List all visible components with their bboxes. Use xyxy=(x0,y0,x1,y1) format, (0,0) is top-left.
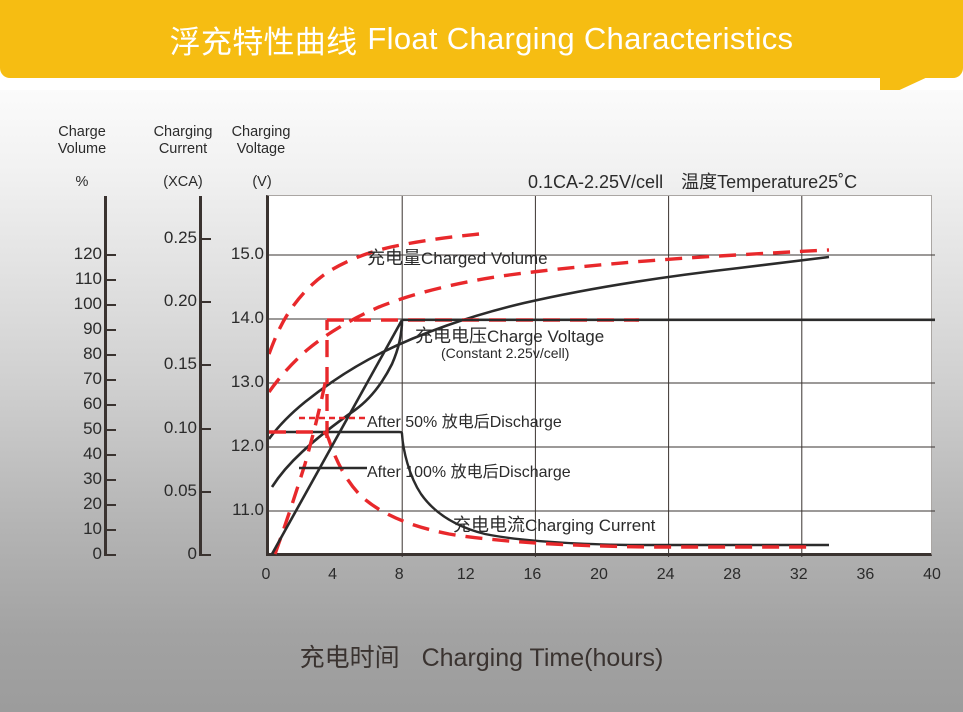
tick-mark xyxy=(107,279,116,281)
tick-label: 0.20 xyxy=(127,291,197,311)
tick-label: 40 xyxy=(32,444,102,464)
tick-mark xyxy=(107,529,116,531)
mid-axis-title: Charging Current xyxy=(140,124,226,158)
tick-mark xyxy=(107,454,116,456)
page-title-en: Float Charging Characteristics xyxy=(367,21,793,57)
tick-label: 14.0 xyxy=(194,308,264,328)
annotation-charge-voltage-cn: 充电电压 xyxy=(415,326,487,346)
tick-label: 120 xyxy=(32,244,102,264)
annotation-charged-volume-cn: 充电量 xyxy=(367,248,421,268)
tick-label: 90 xyxy=(32,319,102,339)
tick-mark xyxy=(202,301,211,303)
x-axis-title-en: Charging Time(hours) xyxy=(422,644,664,672)
tick-mark xyxy=(107,254,116,256)
tick-label: 15.0 xyxy=(194,244,264,264)
legend-label-100: After 100% 放电后Discharge xyxy=(367,458,571,482)
chart-page: 浮充特性曲线 Float Charging Characteristics Ch… xyxy=(0,0,963,712)
x-axis-title: 充电时间 Charging Time(hours) xyxy=(0,638,963,674)
condition-note: 0.1CA-2.25V/cell 温度Temperature25˚C xyxy=(528,168,857,194)
tick-mark xyxy=(107,479,116,481)
x-tick-label: 8 xyxy=(379,566,419,584)
tick-label: 30 xyxy=(32,469,102,489)
tick-label: 0.15 xyxy=(127,354,197,374)
x-tick-label: 32 xyxy=(779,566,819,584)
tick-label: 0.10 xyxy=(127,418,197,438)
tick-mark xyxy=(202,428,211,430)
annotation-charging-current-en: Charging Current xyxy=(525,516,655,535)
left-axis-line xyxy=(104,196,107,556)
x-tick-label: 16 xyxy=(512,566,552,584)
tick-label: 80 xyxy=(32,344,102,364)
mid-axis-title-line1: Charging xyxy=(140,124,226,141)
mid-axis-unit: (XCA) xyxy=(140,174,226,190)
tick-mark xyxy=(107,354,116,356)
x-tick-label: 24 xyxy=(646,566,686,584)
tick-mark xyxy=(107,429,116,431)
tick-mark xyxy=(107,404,116,406)
left-axis-title: Charge Volume xyxy=(40,124,124,158)
annotation-charging-current: 充电电流Charging Current xyxy=(453,511,655,537)
left-axis-title-line1: Charge xyxy=(40,124,124,141)
curve-voltage-ramp-100 xyxy=(272,320,402,554)
tick-label: 70 xyxy=(32,369,102,389)
annotation-charged-volume-en: Charged Volume xyxy=(421,249,548,268)
tick-mark xyxy=(107,554,116,556)
x-tick-label: 4 xyxy=(313,566,353,584)
right-axis-title-line2: Voltage xyxy=(218,141,304,158)
left-axis-unit: % xyxy=(40,174,124,190)
tick-label: 60 xyxy=(32,394,102,414)
tick-mark xyxy=(202,554,211,556)
annotation-charge-voltage-en: Charge Voltage xyxy=(487,327,604,346)
right-axis-unit: (V) xyxy=(232,174,292,190)
x-tick-label: 40 xyxy=(912,566,952,584)
tick-label: 10 xyxy=(32,519,102,539)
page-title: 浮充特性曲线 Float Charging Characteristics xyxy=(0,0,963,78)
tick-label: 0 xyxy=(32,544,102,564)
tick-label: 100 xyxy=(32,294,102,314)
annotation-charging-current-cn: 充电电流 xyxy=(453,515,525,535)
right-axis-title-line1: Charging xyxy=(218,124,304,141)
left-axis-title-line2: Volume xyxy=(40,141,124,158)
tick-label: 0.25 xyxy=(127,228,197,248)
tick-mark xyxy=(202,491,211,493)
tick-mark xyxy=(107,504,116,506)
tick-label: 13.0 xyxy=(194,372,264,392)
tick-mark xyxy=(202,238,211,240)
annotation-charge-voltage-sub: (Constant 2.25v/cell) xyxy=(441,345,569,361)
tick-mark xyxy=(107,379,116,381)
mid-axis-title-line2: Current xyxy=(140,141,226,158)
tick-label: 11.0 xyxy=(194,500,264,520)
plot-area: 充电量Charged Volume 充电电压Charge Voltage (Co… xyxy=(266,195,932,556)
curve-volume-rise-50-lower xyxy=(275,374,327,554)
annotation-charged-volume: 充电量Charged Volume xyxy=(367,244,548,270)
tick-label: 20 xyxy=(32,494,102,514)
x-tick-label: 28 xyxy=(712,566,752,584)
x-tick-label: 36 xyxy=(845,566,885,584)
tick-mark xyxy=(202,364,211,366)
legend-label-50: After 50% 放电后Discharge xyxy=(367,408,562,432)
tick-label: 0.05 xyxy=(127,481,197,501)
tick-label: 110 xyxy=(32,269,102,289)
tick-label: 12.0 xyxy=(194,436,264,456)
x-tick-label: 0 xyxy=(246,566,286,584)
x-tick-label: 20 xyxy=(579,566,619,584)
tick-label: 50 xyxy=(32,419,102,439)
tick-label: 0 xyxy=(127,544,197,564)
tick-mark xyxy=(107,329,116,331)
tick-mark xyxy=(107,304,116,306)
x-axis-title-cn: 充电时间 xyxy=(300,644,400,672)
x-tick-label: 12 xyxy=(446,566,486,584)
page-title-cn: 浮充特性曲线 xyxy=(170,17,358,62)
right-axis-title: Charging Voltage xyxy=(218,124,304,158)
